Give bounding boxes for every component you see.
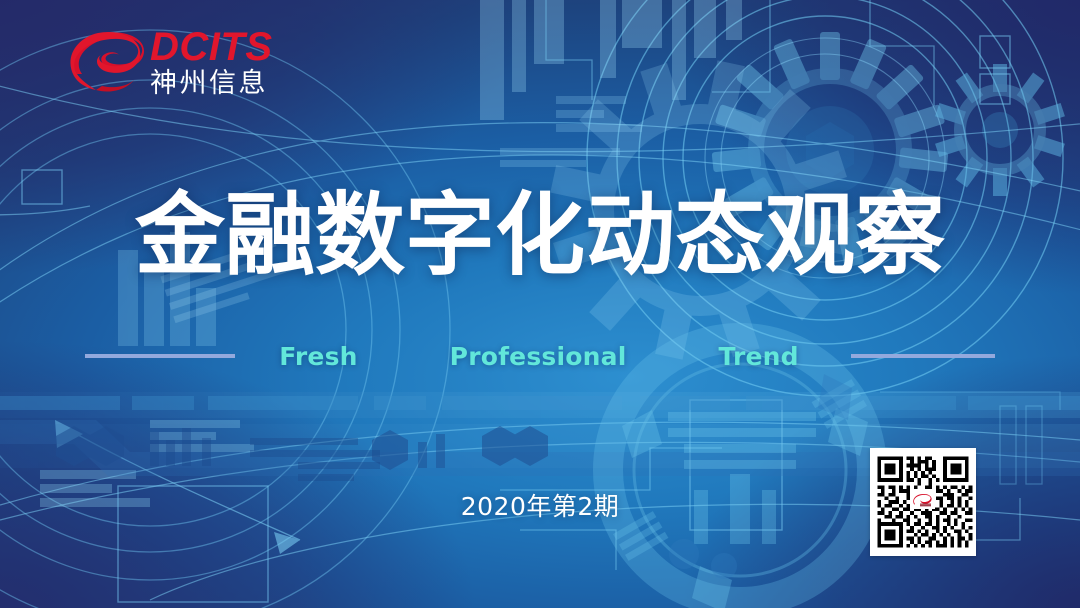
tagline-row: Fresh Professional Trend [0, 340, 1080, 372]
tagline-word-professional: Professional [450, 342, 627, 371]
tagline-words: Fresh Professional Trend [279, 342, 799, 371]
brand-wordmark: DCITS 神州信息 [150, 26, 273, 100]
qr-center-dcits-icon [911, 492, 935, 509]
wechat-qr-code[interactable] [870, 448, 976, 556]
divider-right [851, 354, 995, 358]
brand-name-cn: 神州信息 [150, 68, 273, 100]
page-title: 金融数字化动态观察 [0, 188, 1080, 283]
brand-name-en: DCITS [150, 28, 273, 66]
tagline-word-fresh: Fresh [279, 342, 357, 371]
brand-logo: DCITS 神州信息 [70, 26, 273, 100]
tagline-word-trend: Trend [718, 342, 798, 371]
poster-slide: DCITS 神州信息 金融数字化动态观察 Fresh Professional … [0, 0, 1080, 608]
dcits-swoosh-icon [70, 30, 144, 96]
divider-left [85, 354, 235, 358]
